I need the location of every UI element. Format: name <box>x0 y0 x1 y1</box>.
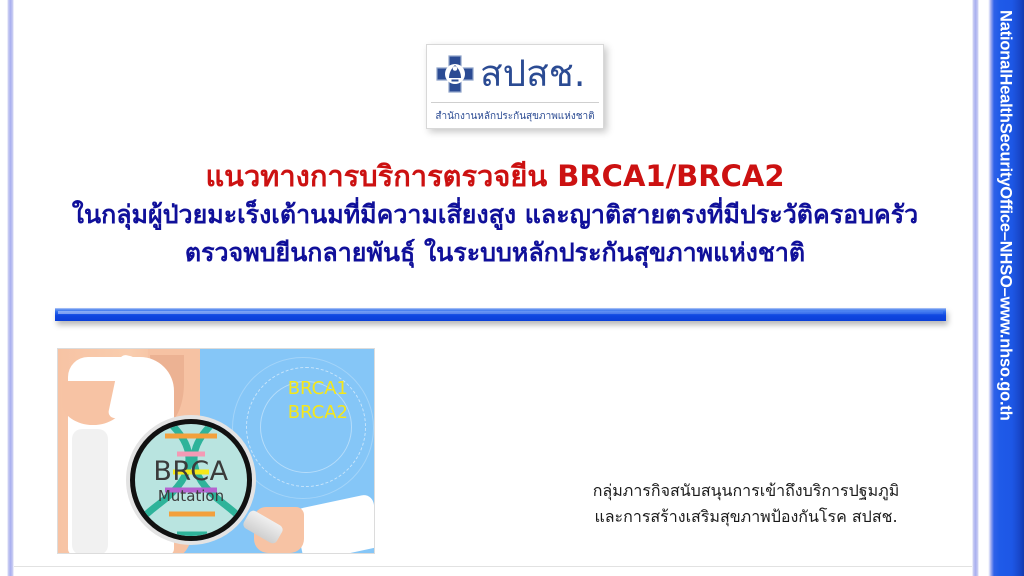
magnifier-lens: BRCA Mutation <box>130 419 252 541</box>
nhso-sidebar: NationalHealthSecurityOffice–NHSO–www.nh… <box>986 0 1024 576</box>
brca-illustration: BRCA1 BRCA2 BRCA Mutation <box>57 348 375 554</box>
magnifier-text: BRCA Mutation <box>135 458 247 508</box>
left-accent-strip <box>7 0 14 576</box>
logo-subtitle: สำนักงานหลักประกันสุขภาพแห่งชาติ <box>427 103 603 129</box>
magnifier-subtitle: Mutation <box>135 485 247 508</box>
illustration-sleeve <box>293 493 375 554</box>
sidebar-vertical-text: NationalHealthSecurityOffice–NHSO–www.nh… <box>996 10 1015 421</box>
gene-label-brca2: BRCA2 <box>288 401 348 425</box>
illustration-top-shading <box>72 429 108 554</box>
credit-line2: และการสร้างเสริมสุขภาพป้องกันโรค สปสช. <box>536 504 956 530</box>
gene-label-brca1: BRCA1 <box>288 377 348 401</box>
magnifier-title: BRCA <box>135 458 247 485</box>
page-title-line3: ตรวจพบยีนกลายพันธุ์ ในระบบหลักประกันสุขภ… <box>40 234 950 272</box>
credit-block: กลุ่มภารกิจสนับสนุนการเข้าถึงบริการปฐมภู… <box>536 478 956 530</box>
logo-top-row: สปสช. <box>427 45 603 102</box>
bottom-rule <box>14 566 972 567</box>
medical-cross-icon <box>435 54 475 94</box>
slide-canvas: สปสช. สำนักงานหลักประกันสุขภาพแห่งชาติ แ… <box>0 0 1024 576</box>
right-gap <box>979 0 986 576</box>
divider-bar <box>55 308 946 321</box>
page-title-line2: ในกลุ่มผู้ป่วยมะเร็งเต้านมที่มีความเสี่ย… <box>40 196 950 234</box>
gene-label: BRCA1 BRCA2 <box>288 377 348 426</box>
divider-bar-wrap <box>55 308 946 325</box>
nhso-logo: สปสช. สำนักงานหลักประกันสุขภาพแห่งชาติ <box>426 44 604 129</box>
logo-acronym: สปสช. <box>480 55 586 92</box>
right-accent-strip <box>972 0 979 576</box>
credit-line1: กลุ่มภารกิจสนับสนุนการเข้าถึงบริการปฐมภู… <box>536 478 956 504</box>
page-title-line1: แนวทางการบริการตรวจยีน BRCA1/BRCA2 <box>40 156 950 196</box>
title-block: แนวทางการบริการตรวจยีน BRCA1/BRCA2 ในกลุ… <box>40 156 950 272</box>
